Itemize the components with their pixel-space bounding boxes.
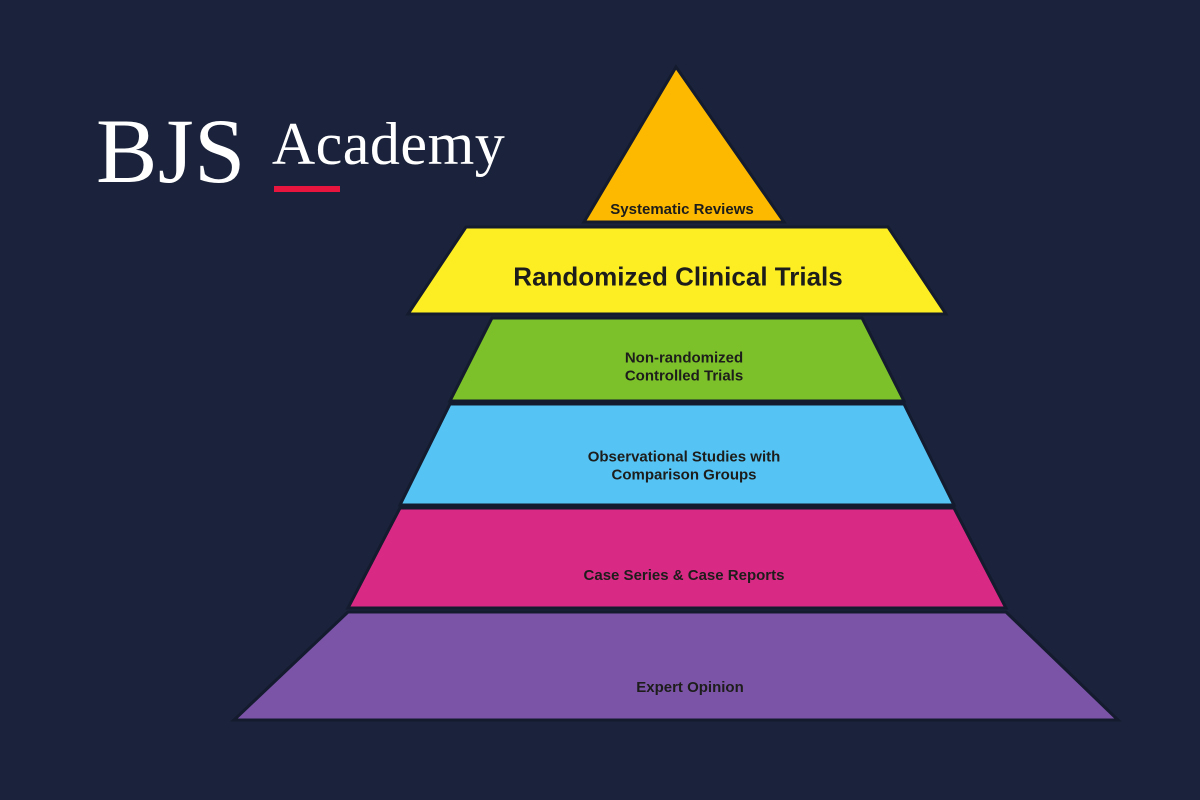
evidence-hierarchy-pyramid <box>0 0 1200 800</box>
pyramid-tier-2[interactable] <box>408 227 946 314</box>
pyramid-tier-6[interactable] <box>234 612 1118 720</box>
pyramid-tier-1[interactable] <box>584 67 784 222</box>
pyramid-tier-5[interactable] <box>348 508 1006 608</box>
pyramid-tier-3[interactable] <box>450 318 904 401</box>
pyramid-tier-4[interactable] <box>400 404 954 505</box>
pyramid-infographic-canvas: BJS Academy Systematic ReviewsRandomized… <box>0 0 1200 800</box>
